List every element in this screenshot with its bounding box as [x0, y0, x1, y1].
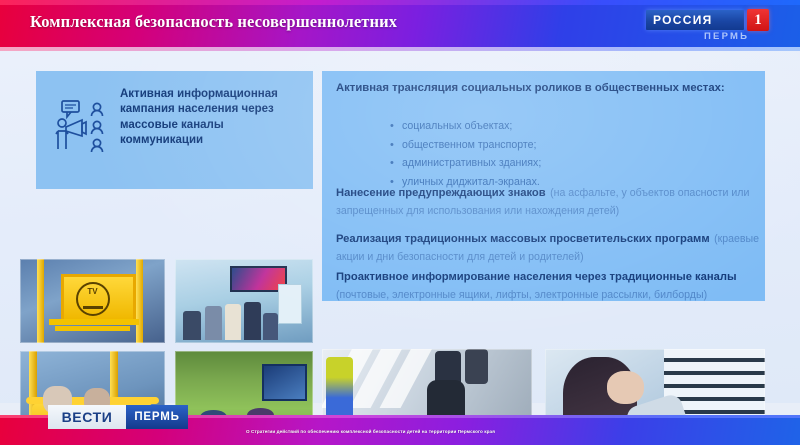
list-item: административных зданиях;	[390, 154, 790, 173]
concept-card-text: Активная информационная кампания населен…	[120, 87, 305, 148]
channel-logo-plate: РОССИЯ	[646, 10, 744, 30]
photo-waiting-room-tv	[175, 259, 313, 343]
page-title: Комплексная безопасность несовершеннолет…	[30, 12, 397, 32]
text-panel: Активная трансляция социальных роликов в…	[322, 71, 765, 301]
measure-title: Нанесение предупреждающих знаков	[336, 187, 546, 199]
program-region-label: ПЕРМЬ	[126, 405, 188, 429]
list-item: общественном транспорте;	[390, 136, 790, 155]
program-name-plate: ВЕСТИ	[48, 405, 126, 429]
broadcast-locations-list: социальных объектах; общественном трансп…	[350, 117, 790, 191]
program-name-label: ВЕСТИ	[48, 405, 126, 429]
megaphone-audience-icon	[50, 98, 112, 160]
channel-name-label: РОССИЯ	[653, 13, 713, 27]
channel-region-label: ПЕРМЬ	[704, 31, 749, 42]
program-logo: ВЕСТИ ПЕРМЬ	[48, 405, 188, 429]
program-region-plate: ПЕРМЬ	[126, 405, 188, 429]
measure-block-traditional-channels: Проактивное информирование населения чер…	[336, 267, 760, 303]
photo-bus-tv-screen: TV	[20, 259, 165, 343]
concept-card: Активная информационная кампания населен…	[36, 71, 313, 189]
channel-logo: РОССИЯ 1 ПЕРМЬ	[646, 10, 776, 44]
measure-detail: (почтовые, электронные ящики, лифты, эле…	[336, 289, 707, 301]
list-item: социальных объектах;	[390, 117, 790, 136]
measure-title: Проактивное информирование населения чер…	[336, 271, 737, 283]
text-panel-heading: Активная трансляция социальных роликов в…	[336, 81, 754, 95]
tv-broadcast-screen: Комплексная безопасность несовершеннолет…	[0, 0, 800, 445]
measure-block-education-programs: Реализация традиционных массовых просвет…	[336, 229, 760, 265]
ticker-caption: О Стратегии действий по обеспечению комп…	[246, 429, 576, 434]
presentation-slide: Активная информационная кампания населен…	[0, 51, 800, 403]
measure-block-warning-signs: Нанесение предупреждающих знаков (на асф…	[336, 183, 760, 219]
measure-title: Реализация традиционных массовых просвет…	[336, 233, 710, 245]
channel-number-badge: 1	[747, 9, 769, 31]
channel-number-label: 1	[747, 9, 769, 31]
